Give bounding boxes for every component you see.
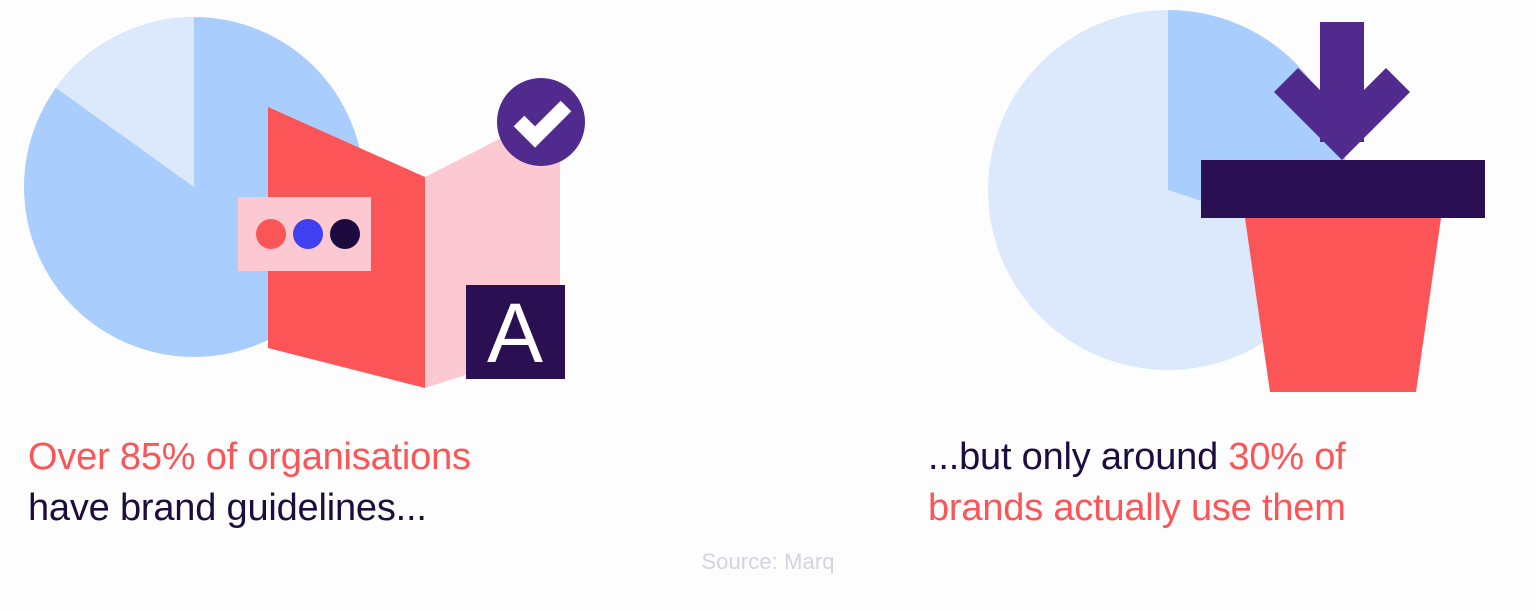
- trash-bin-lid: [1201, 160, 1485, 218]
- source-label: Source: Marq: [0, 549, 1536, 575]
- typography-tile: A: [466, 285, 565, 380]
- swatch-dot-red: [256, 219, 286, 249]
- left-caption: Over 85% of organisations have brand gui…: [28, 432, 471, 533]
- left-caption-highlight: Over 85% of organisations: [28, 436, 471, 478]
- left-caption-plain: have brand guidelines...: [28, 487, 427, 529]
- right-caption-highlight-2: brands actually use them: [928, 487, 1346, 529]
- brand-guidelines-brochure-illustration: A: [0, 0, 640, 420]
- swatch-dot-blue: [293, 219, 323, 249]
- right-caption-line1: ...but only around 30% of: [928, 432, 1346, 483]
- type-tile-letter: A: [487, 286, 543, 380]
- unused-guidelines-trash-illustration: [938, 0, 1536, 420]
- right-stat-panel: ...but only around 30% of brands actuall…: [768, 0, 1536, 611]
- right-caption-line2: brands actually use them: [928, 483, 1346, 534]
- right-caption-plain: ...but only around: [928, 436, 1228, 478]
- infographic-canvas: A Over 85% of organisations have brand g…: [0, 0, 1536, 611]
- left-caption-line1: Over 85% of organisations: [28, 432, 471, 483]
- trash-bin-body: [1245, 218, 1441, 392]
- swatch-dot-navy: [330, 219, 360, 249]
- left-caption-line2: have brand guidelines...: [28, 483, 471, 534]
- right-caption: ...but only around 30% of brands actuall…: [928, 432, 1346, 533]
- left-stat-panel: A Over 85% of organisations have brand g…: [0, 0, 768, 611]
- check-circle-icon: [497, 78, 585, 166]
- right-caption-highlight-1: 30% of: [1228, 436, 1345, 478]
